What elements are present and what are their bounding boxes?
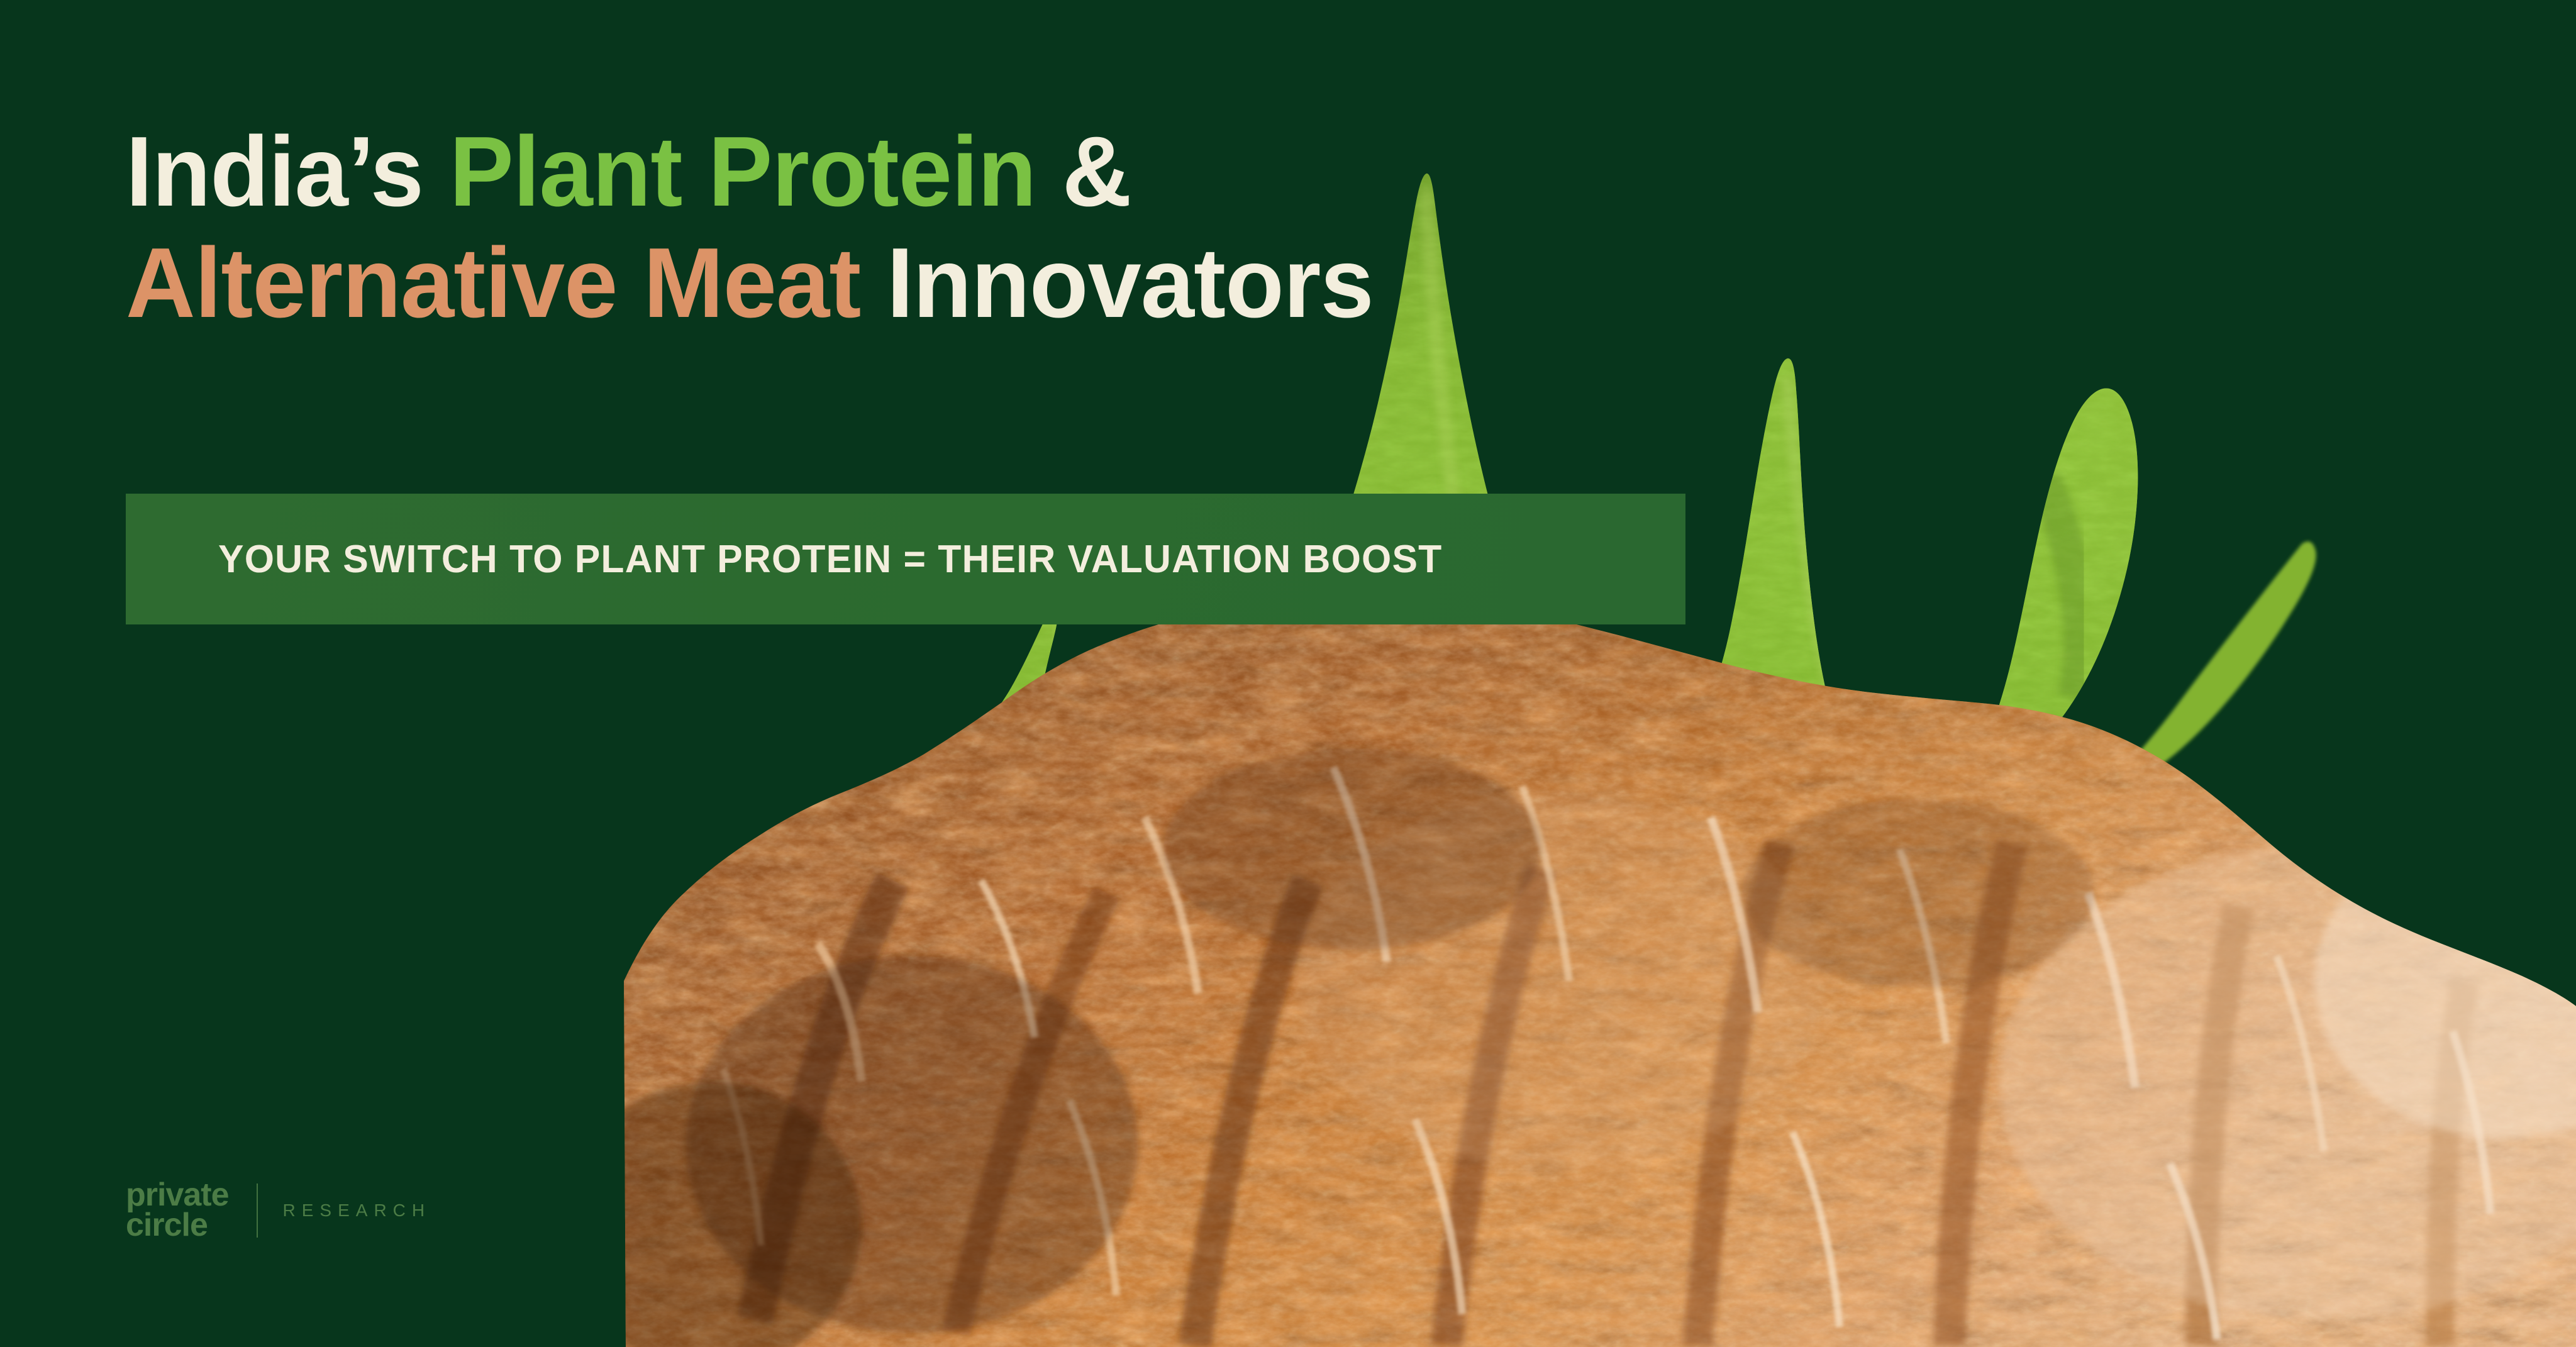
headline-alternative-meat: Alternative Meat (126, 228, 860, 338)
subtitle-banner (126, 494, 1685, 624)
logo-wordmark: private circle (126, 1180, 229, 1241)
logo-research-label: RESEARCH (283, 1200, 431, 1221)
headline-ampersand: & (1036, 116, 1131, 227)
plant-based-patty-graphic (560, 566, 2576, 1347)
headline-indias: India’s (126, 116, 450, 227)
logo-word-private: private (126, 1180, 229, 1211)
brand-logo[interactable]: private circle RESEARCH (126, 1173, 431, 1248)
logo-word-circle: circle (126, 1211, 229, 1241)
page-title: India’s Plant Protein & Alternative Meat… (126, 123, 1412, 346)
logo-divider (257, 1183, 258, 1238)
headline-plant-protein: Plant Protein (450, 116, 1036, 227)
hero-banner-canvas: YOUR SWITCH TO PLANT PROTEIN = THEIR VAL… (0, 0, 2576, 1347)
headline-line-2: Alternative Meat Innovators (126, 235, 1374, 332)
headline-line-1: India’s Plant Protein & (126, 123, 1374, 221)
headline-innovators: Innovators (860, 228, 1373, 338)
lettuce-leaf-tip (2088, 541, 2316, 800)
